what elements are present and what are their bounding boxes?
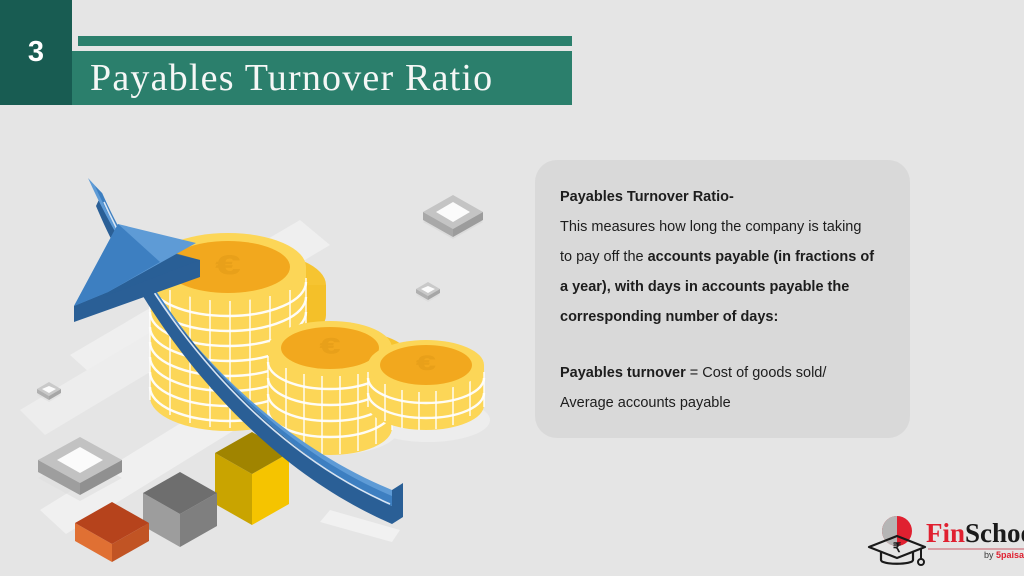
formula-numerator: = Cost of goods sold/ [686,365,827,381]
logo-school: School [965,518,1024,548]
tile-small-right [416,282,440,302]
isometric-illustration: € [0,110,530,576]
finschool-logo[interactable]: ₹ FinSchool by 5paisa [866,512,1016,570]
short-coin-stack-body: € [368,340,484,430]
paragraph-spacer [560,332,932,358]
svg-text:€: € [417,351,436,375]
logo-tagline-by: by [984,550,996,560]
formula-line-1: Payables turnover = Cost of goods sold/ [560,358,932,388]
description-heading: Payables Turnover Ratio- [560,182,932,212]
graduation-cap-icon: ₹ [866,514,928,568]
coin-euro-symbol-small: € [417,351,436,375]
header-accent-bar [78,36,572,46]
description-text: Payables Turnover Ratio- This measures h… [560,182,932,418]
description-line-1: This measures how long the company is ta… [560,212,932,242]
formula-label: Payables turnover [560,365,686,381]
formula-line-2: Average accounts payable [560,388,932,418]
svg-text:€: € [320,334,340,359]
logo-wordmark: FinSchool [926,520,1024,547]
coin-euro-symbol-medium: € [320,334,340,359]
svg-text:€: € [216,249,240,280]
slide-canvas: 3 Payables Turnover Ratio [0,0,1024,576]
svg-text:₹: ₹ [893,540,902,555]
description-line-2: to pay off the accounts payable (in frac… [560,242,932,272]
description-line-3: a year), with days in accounts payable t… [560,272,932,302]
bar-gray [143,472,217,547]
logo-tagline-brand: 5paisa [996,550,1024,560]
description-line-4: corresponding number of days: [560,302,932,332]
logo-tagline: by 5paisa [984,550,1024,560]
logo-fin: Fin [926,518,965,548]
tile-medium-right [423,195,483,239]
header-number: 3 [0,38,72,67]
page-title: Payables Turnover Ratio [90,51,493,105]
description-line-2-normal: to pay off the [560,249,648,265]
short-coin-stack: € [368,340,484,430]
description-line-2-bold: accounts payable (in fractions of [648,249,874,265]
coin-euro-symbol-large: € [216,249,240,280]
